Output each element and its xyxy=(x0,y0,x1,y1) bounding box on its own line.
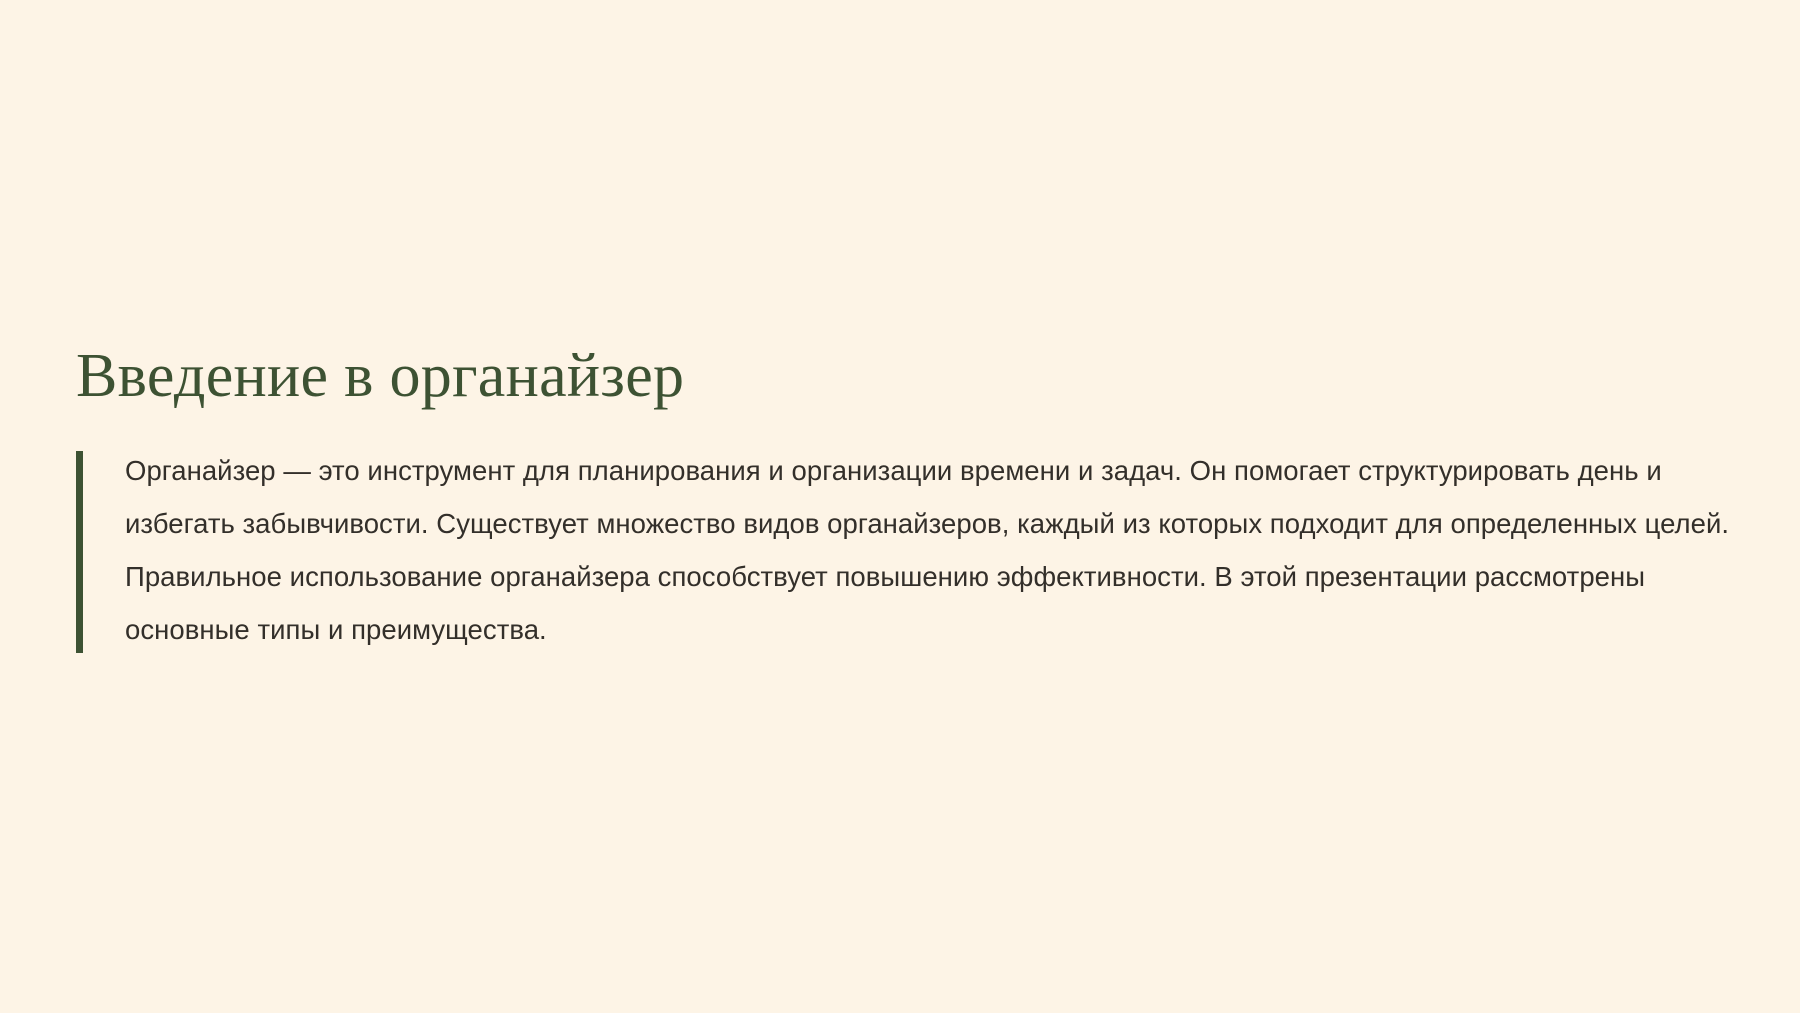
body-paragraph: Органайзер — это инструмент для планиров… xyxy=(125,445,1731,656)
accent-bar xyxy=(76,451,83,652)
body-quote-block: Органайзер — это инструмент для планиров… xyxy=(76,445,1731,656)
presentation-slide: Введение в органайзер Органайзер — это и… xyxy=(0,0,1800,1013)
slide-content: Введение в органайзер Органайзер — это и… xyxy=(76,342,1736,657)
page-title: Введение в органайзер xyxy=(76,342,1736,411)
